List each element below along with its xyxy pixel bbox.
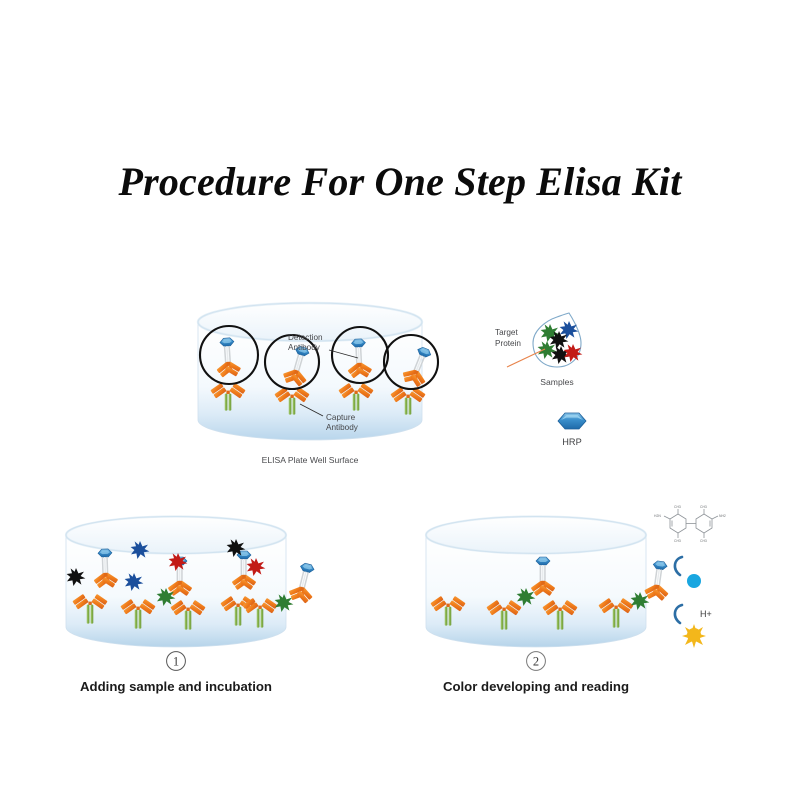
elisa-well-diagram: Detection Antibody Capture Antibody ELIS… (180, 300, 480, 480)
reaction-arrow-icon (675, 557, 682, 575)
oxidized-tmb-blue-dot (687, 574, 701, 588)
step-number-badge: 1 (167, 652, 186, 671)
samples-label: Samples (540, 377, 573, 387)
h-plus-label: H+ (700, 609, 712, 619)
step-2-diagram: CH3 CH3 CH3 CH3 H2N NH2 H+ 2 Color devel… (408, 505, 748, 700)
tmb-label-ch3-c: CH3 (700, 505, 707, 509)
step-number-badge: 2 (527, 652, 546, 671)
elisa-plate-well-caption: ELISA Plate Well Surface (262, 455, 359, 465)
sample-droplet (533, 313, 582, 367)
hrp-legend-icon (558, 413, 586, 429)
tmb-molecule-icon (664, 509, 718, 538)
step-2-panel: CH3 CH3 CH3 CH3 H2N NH2 H+ 2 Color devel… (408, 505, 748, 700)
tmb-label-ch3-a: CH3 (674, 505, 681, 509)
tmb-label-h2n: H2N (654, 514, 661, 518)
page-title: Procedure For One Step Elisa Kit (0, 158, 800, 205)
step-number-text: 2 (533, 655, 539, 669)
reaction-arrow-icon-2 (675, 605, 682, 623)
step-1-diagram: 1 Adding sample and incubation (48, 505, 378, 700)
legend-diagram: Target Protein Samples HRP (495, 305, 675, 470)
detection-antibody-label-line2: Antibody (288, 343, 321, 352)
tmb-substrate-group: CH3 CH3 CH3 CH3 H2N NH2 H+ (654, 505, 726, 648)
target-protein-label-line2: Protein (495, 339, 521, 348)
elisa-plate-well-panel: Detection Antibody Capture Antibody ELIS… (180, 300, 480, 480)
step-1-panel: 1 Adding sample and incubation (48, 505, 378, 700)
tmb-label-nh2: NH2 (719, 514, 726, 518)
step-1-caption: Adding sample and incubation (80, 679, 272, 694)
hrp-label: HRP (562, 437, 581, 447)
tmb-label-ch3-d: CH3 (700, 539, 707, 543)
capture-antibody-label-line2: Antibody (326, 423, 359, 432)
step-number-text: 1 (173, 655, 179, 669)
step-2-caption: Color developing and reading (443, 679, 629, 694)
tmb-label-ch3-b: CH3 (674, 539, 681, 543)
well-cylinder (426, 517, 646, 647)
capture-antibody-label-line1: Capture (326, 413, 356, 422)
detection-antibody-label-line1: Detection (288, 333, 323, 342)
sample-hrp-legend-panel: Target Protein Samples HRP (495, 305, 675, 470)
target-protein-label-line1: Target (495, 328, 518, 337)
final-product-yellow-dot (682, 624, 706, 648)
